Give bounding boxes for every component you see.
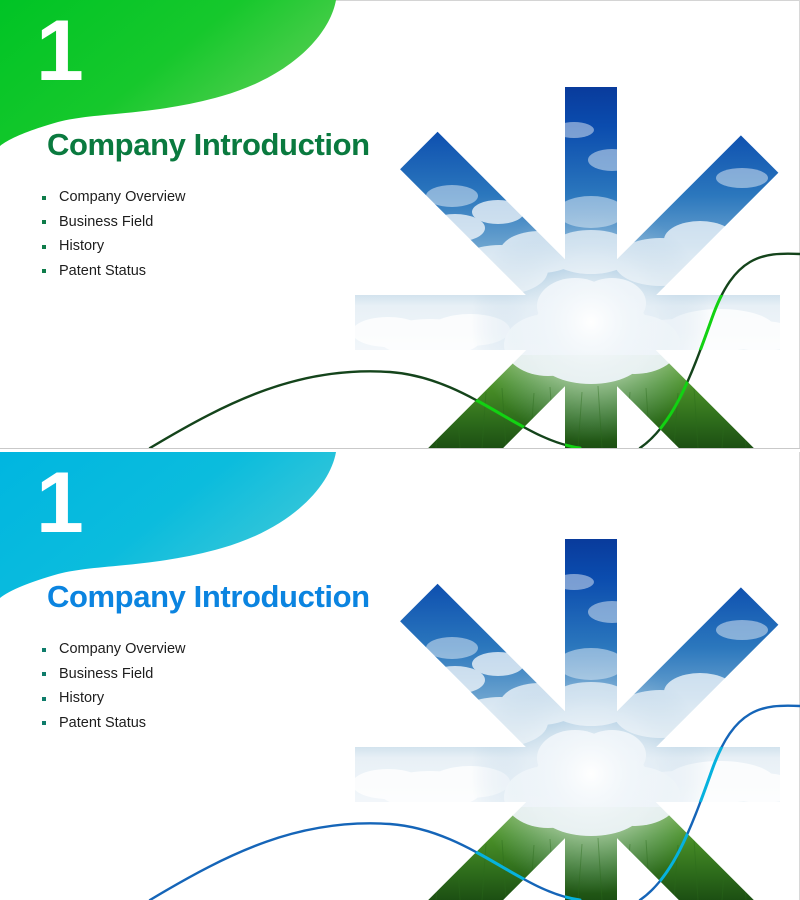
- list-item-label: Business Field: [59, 214, 153, 230]
- bullet-dot-icon: [42, 245, 46, 249]
- list-item-label: Patent Status: [59, 715, 146, 731]
- slide-divider: [0, 448, 800, 449]
- list-item[interactable]: Company Overview: [40, 185, 186, 210]
- bullet-list: Company Overview Business Field History …: [40, 637, 186, 735]
- list-item[interactable]: Patent Status: [40, 259, 186, 284]
- list-item[interactable]: Company Overview: [40, 637, 186, 662]
- page-title: Company Introduction: [47, 127, 370, 163]
- bullet-dot-icon: [42, 648, 46, 652]
- bullet-dot-icon: [42, 672, 46, 676]
- slide-number: 1: [36, 460, 82, 546]
- bullet-dot-icon: [42, 697, 46, 701]
- list-item[interactable]: Business Field: [40, 210, 186, 235]
- slide-1[interactable]: 1 Company Introduction Company Overview …: [0, 0, 800, 448]
- slide-1-top-edge: [0, 0, 800, 1]
- list-item[interactable]: History: [40, 686, 186, 711]
- list-item-label: Company Overview: [59, 189, 186, 205]
- list-item-label: Business Field: [59, 666, 153, 682]
- list-item-label: History: [59, 690, 104, 706]
- bullet-dot-icon: [42, 721, 46, 725]
- bullet-dot-icon: [42, 196, 46, 200]
- bullet-list: Company Overview Business Field History …: [40, 185, 186, 283]
- page-title: Company Introduction: [47, 579, 370, 615]
- slide-deck: 1 Company Introduction Company Overview …: [0, 0, 800, 900]
- bullet-dot-icon: [42, 220, 46, 224]
- list-item[interactable]: Business Field: [40, 662, 186, 687]
- bullet-dot-icon: [42, 269, 46, 273]
- list-item[interactable]: History: [40, 234, 186, 259]
- list-item-label: History: [59, 238, 104, 254]
- slide-number: 1: [36, 8, 82, 94]
- slide-2[interactable]: 1 Company Introduction Company Overview …: [0, 452, 800, 900]
- list-item-label: Patent Status: [59, 263, 146, 279]
- list-item[interactable]: Patent Status: [40, 711, 186, 736]
- list-item-label: Company Overview: [59, 641, 186, 657]
